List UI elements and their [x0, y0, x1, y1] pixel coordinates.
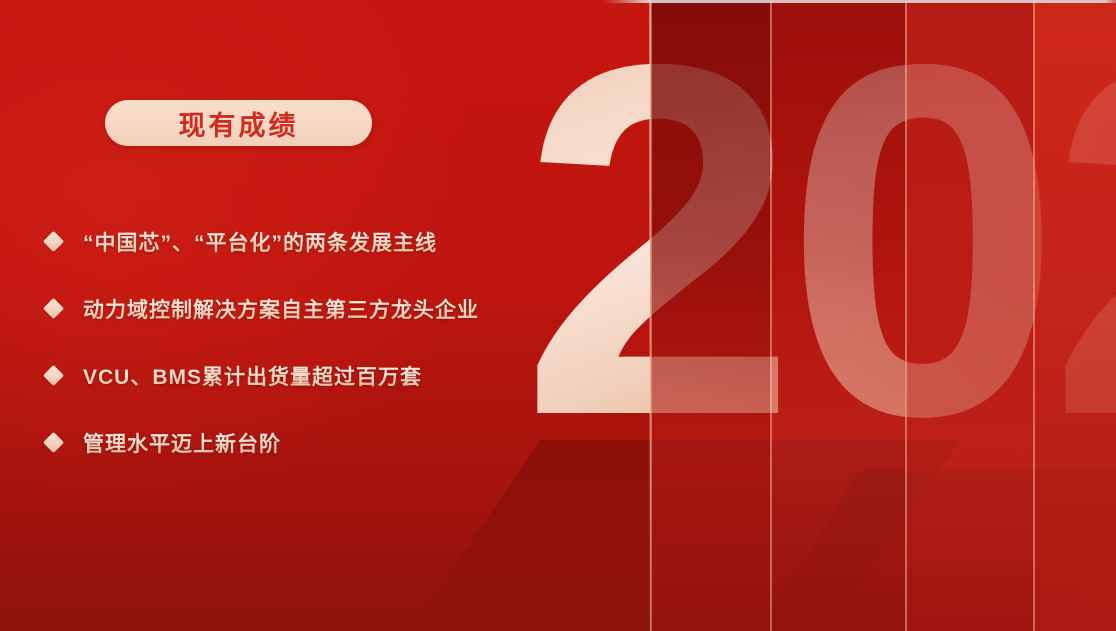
diamond-bullet-icon: [43, 231, 64, 252]
decorative-year-text: 2024: [520, 0, 1116, 520]
diamond-bullet-icon: [43, 298, 64, 319]
section-title-pill: 现有成绩: [105, 100, 372, 146]
list-item-label: VCU、BMS累计出货量超过百万套: [83, 361, 422, 391]
achievement-list: “中国芯”、“平台化”的两条发展主线 动力域控制解决方案自主第三方龙头企业 VC…: [46, 208, 606, 476]
page-title: 现有成绩: [179, 104, 299, 143]
diamond-bullet-icon: [43, 365, 64, 386]
list-item-label: 动力域控制解决方案自主第三方龙头企业: [83, 294, 479, 324]
decorative-year-graphic: 2024: [520, 0, 1116, 520]
presentation-slide: 2024 现有成绩 “中国芯”、“平台化”的两条发展主线 动力域控制解决方案自主…: [0, 0, 1116, 631]
list-item: 管理水平迈上新台阶: [46, 409, 606, 476]
list-item: 动力域控制解决方案自主第三方龙头企业: [46, 275, 606, 342]
list-item-label: 管理水平迈上新台阶: [83, 428, 281, 458]
top-edge-highlight: [0, 0, 1116, 3]
list-item: VCU、BMS累计出货量超过百万套: [46, 342, 606, 409]
diamond-bullet-icon: [43, 432, 64, 453]
list-item: “中国芯”、“平台化”的两条发展主线: [46, 208, 606, 275]
list-item-label: “中国芯”、“平台化”的两条发展主线: [83, 227, 437, 257]
